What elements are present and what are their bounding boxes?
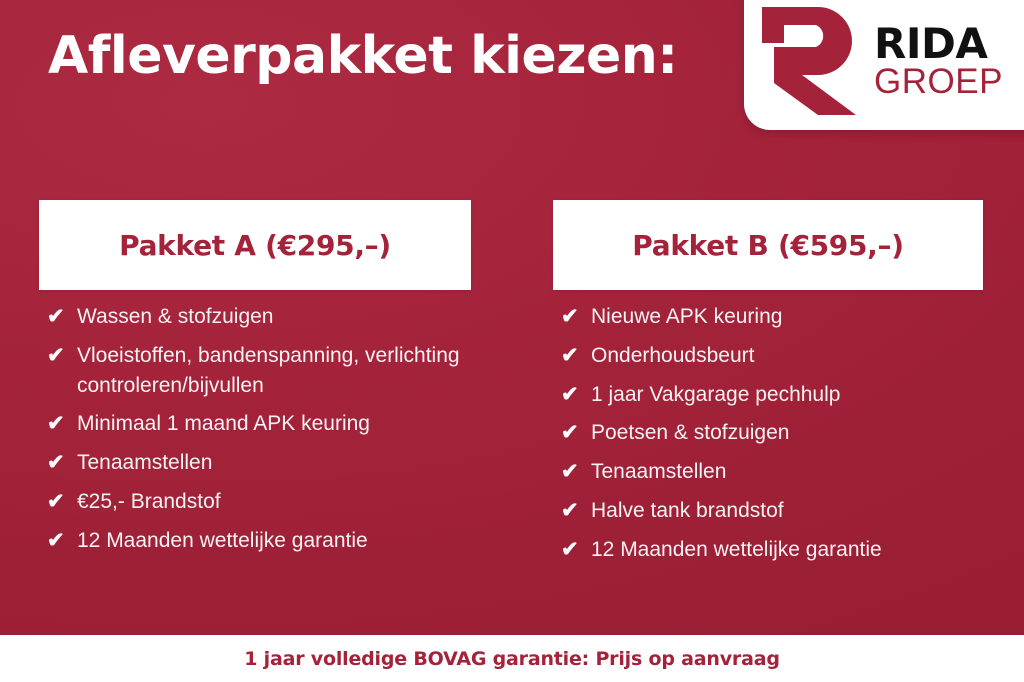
logo-wordmark: RIDA GROEP	[874, 24, 1003, 99]
list-item-label: 1 jaar Vakgarage pechhulp	[591, 380, 983, 410]
package-b-header: Pakket B (€595,–)	[553, 200, 983, 290]
list-item: ✔ Vloeistoffen, bandenspanning, verlicht…	[47, 341, 471, 401]
check-icon: ✔	[561, 457, 591, 487]
list-item-label: Wassen & stofzuigen	[77, 302, 471, 332]
logo-subtitle: GROEP	[874, 65, 1003, 99]
check-icon: ✔	[47, 448, 77, 478]
list-item: ✔ 12 Maanden wettelijke garantie	[561, 535, 983, 565]
rida-r-monogram-icon	[756, 3, 864, 119]
list-item-label: €25,- Brandstof	[77, 487, 471, 517]
list-item-label: Vloeistoffen, bandenspanning, verlichtin…	[77, 341, 471, 401]
page-title: Afleverpakket kiezen:	[48, 30, 678, 82]
footer-banner: 1 jaar volledige BOVAG garantie: Prijs o…	[0, 635, 1024, 682]
check-icon: ✔	[561, 302, 591, 332]
list-item: ✔ Nieuwe APK keuring	[561, 302, 983, 332]
list-item-label: Halve tank brandstof	[591, 496, 983, 526]
list-item: ✔ Poetsen & stofzuigen	[561, 418, 983, 448]
list-item-label: Poetsen & stofzuigen	[591, 418, 983, 448]
list-item: ✔ Tenaamstellen	[561, 457, 983, 487]
package-card-b: Pakket B (€595,–) ✔ Nieuwe APK keuring ✔…	[553, 200, 983, 574]
package-b-title: Pakket B (€595,–)	[632, 229, 903, 262]
list-item-label: Onderhoudsbeurt	[591, 341, 983, 371]
list-item: ✔ Wassen & stofzuigen	[47, 302, 471, 332]
package-a-feature-list: ✔ Wassen & stofzuigen ✔ Vloeistoffen, ba…	[39, 302, 471, 556]
list-item-label: Tenaamstellen	[77, 448, 471, 478]
rida-groep-logo-panel: RIDA GROEP	[744, 0, 1024, 130]
poster-header: Afleverpakket kiezen: RIDA GROEP	[0, 0, 1024, 140]
logo-inner: RIDA GROEP	[756, 2, 1024, 120]
footer-text: 1 jaar volledige BOVAG garantie: Prijs o…	[244, 648, 780, 670]
list-item-label: 12 Maanden wettelijke garantie	[77, 526, 471, 556]
list-item: ✔ Onderhoudsbeurt	[561, 341, 983, 371]
logo-name: RIDA	[874, 24, 1003, 64]
package-card-a: Pakket A (€295,–) ✔ Wassen & stofzuigen …	[39, 200, 471, 565]
list-item: ✔ Minimaal 1 maand APK keuring	[47, 409, 471, 439]
list-item: ✔ Tenaamstellen	[47, 448, 471, 478]
check-icon: ✔	[47, 409, 77, 439]
check-icon: ✔	[561, 535, 591, 565]
package-b-feature-list: ✔ Nieuwe APK keuring ✔ Onderhoudsbeurt ✔…	[553, 302, 983, 565]
list-item-label: 12 Maanden wettelijke garantie	[591, 535, 983, 565]
check-icon: ✔	[561, 496, 591, 526]
package-a-header: Pakket A (€295,–)	[39, 200, 471, 290]
list-item: ✔ 12 Maanden wettelijke garantie	[47, 526, 471, 556]
check-icon: ✔	[47, 526, 77, 556]
delivery-package-poster: Afleverpakket kiezen: RIDA GROEP Pakket …	[0, 0, 1024, 682]
package-a-title: Pakket A (€295,–)	[119, 229, 391, 262]
list-item: ✔ Halve tank brandstof	[561, 496, 983, 526]
list-item-label: Tenaamstellen	[591, 457, 983, 487]
list-item-label: Minimaal 1 maand APK keuring	[77, 409, 471, 439]
check-icon: ✔	[47, 487, 77, 517]
list-item-label: Nieuwe APK keuring	[591, 302, 983, 332]
check-icon: ✔	[561, 418, 591, 448]
check-icon: ✔	[561, 380, 591, 410]
list-item: ✔ €25,- Brandstof	[47, 487, 471, 517]
list-item: ✔ 1 jaar Vakgarage pechhulp	[561, 380, 983, 410]
check-icon: ✔	[561, 341, 591, 371]
check-icon: ✔	[47, 341, 77, 371]
check-icon: ✔	[47, 302, 77, 332]
